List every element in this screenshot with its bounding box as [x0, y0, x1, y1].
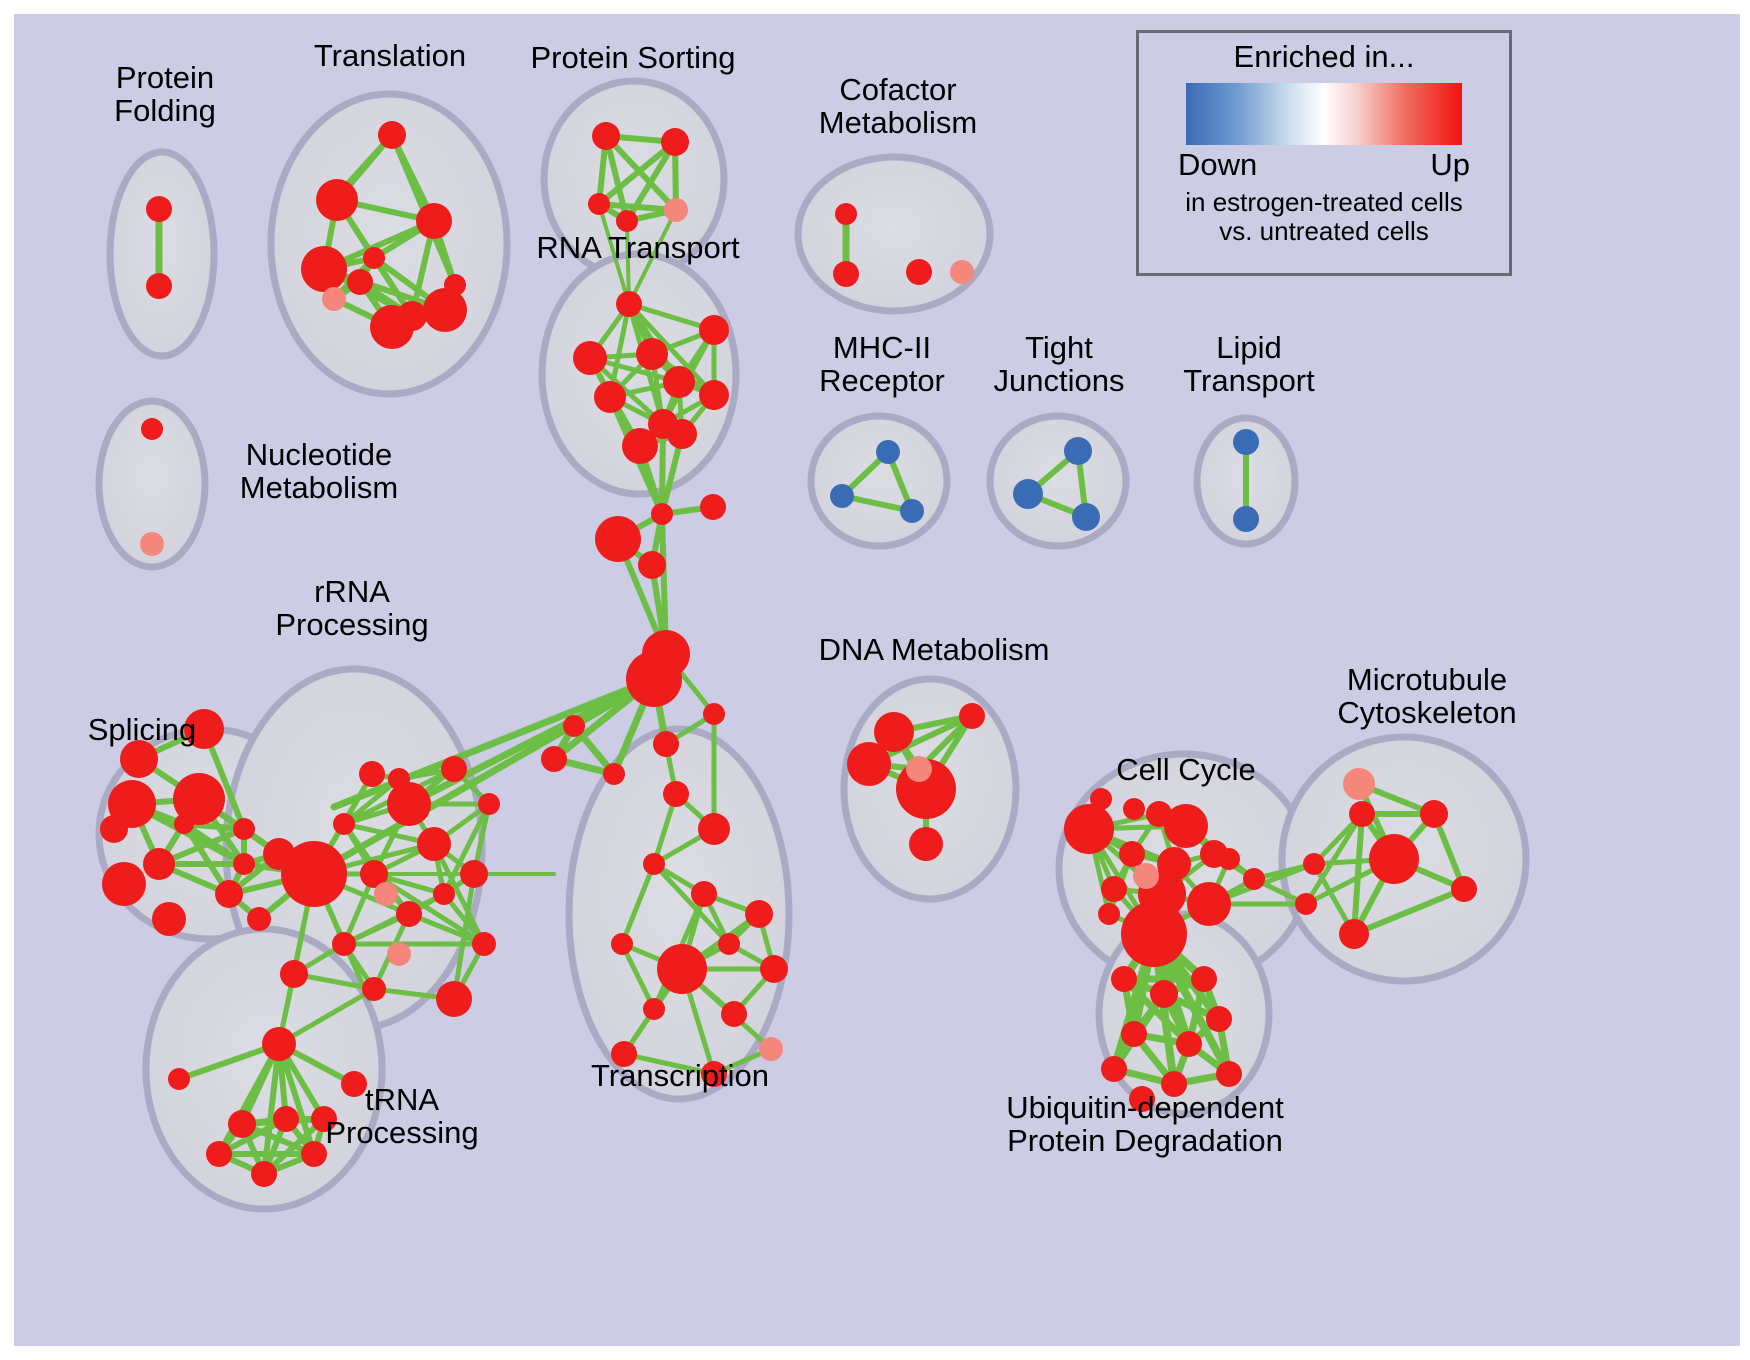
- cluster-label-protein-sorting: Protein Sorting: [500, 42, 766, 75]
- node: [228, 1110, 256, 1138]
- node: [102, 862, 146, 906]
- cluster-label-protein-folding: Protein Folding: [90, 62, 240, 128]
- node: [363, 247, 385, 269]
- node-down: [830, 484, 854, 508]
- node: [1339, 919, 1369, 949]
- node: [1090, 788, 1112, 810]
- node: [370, 305, 414, 349]
- node: [416, 203, 452, 239]
- node: [691, 881, 717, 907]
- node: [168, 1068, 190, 1090]
- node: [333, 813, 355, 835]
- node: [573, 341, 607, 375]
- node: [423, 288, 467, 332]
- node: [721, 1001, 747, 1027]
- node: [1123, 798, 1145, 820]
- node: [1420, 800, 1448, 828]
- node: [663, 366, 695, 398]
- node: [833, 261, 859, 287]
- node: [703, 703, 725, 725]
- node: [563, 715, 585, 737]
- node: [460, 860, 488, 888]
- cluster-label-cofactor-metabolism: Cofactor Metabolism: [784, 74, 1012, 140]
- node: [1349, 801, 1375, 827]
- node: [651, 503, 673, 525]
- node: [1191, 966, 1217, 992]
- node: [603, 763, 625, 785]
- node: [262, 1027, 296, 1061]
- node: [657, 944, 707, 994]
- node: [638, 551, 666, 579]
- node-down: [1064, 437, 1092, 465]
- legend-label-down: Down: [1178, 147, 1257, 183]
- legend-label-up: Up: [1430, 147, 1470, 183]
- node: [347, 269, 373, 295]
- node: [436, 981, 472, 1017]
- node: [699, 380, 729, 410]
- node-mid: [906, 756, 932, 782]
- hull-mhc: [811, 416, 947, 546]
- cluster-label-splicing: Splicing: [62, 714, 222, 747]
- node: [281, 841, 347, 907]
- node-down: [900, 499, 924, 523]
- cluster-label-dna-metabolism: DNA Metabolism: [804, 634, 1064, 667]
- node: [1369, 834, 1419, 884]
- node: [1150, 980, 1178, 1008]
- node: [396, 901, 422, 927]
- node-mid: [387, 942, 411, 966]
- node: [700, 494, 726, 520]
- legend-caption-line2: vs. untreated cells: [1219, 216, 1429, 247]
- node: [478, 793, 500, 815]
- node: [433, 883, 455, 905]
- node: [1164, 804, 1208, 848]
- node: [1187, 882, 1231, 926]
- node: [1101, 1056, 1127, 1082]
- cluster-label-trna-processing: tRNA Processing: [302, 1084, 502, 1150]
- node: [280, 960, 308, 988]
- node: [174, 814, 194, 834]
- node: [1121, 1021, 1147, 1047]
- node: [653, 731, 679, 757]
- node: [667, 419, 697, 449]
- cluster-label-mhc-ii-receptor: MHC-II Receptor: [794, 332, 970, 398]
- node: [1121, 901, 1187, 967]
- node: [100, 815, 128, 843]
- node: [1218, 848, 1240, 870]
- node: [541, 746, 567, 772]
- node: [146, 273, 172, 299]
- cluster-label-rrna-processing: rRNA Processing: [252, 576, 452, 642]
- node: [663, 781, 689, 807]
- node: [332, 932, 356, 956]
- node: [359, 761, 385, 787]
- node: [247, 907, 271, 931]
- node: [835, 203, 857, 225]
- node-mid: [950, 260, 974, 284]
- node: [146, 196, 172, 222]
- node: [1111, 966, 1137, 992]
- node: [1098, 903, 1120, 925]
- cluster-label-tight-junctions: Tight Junctions: [970, 332, 1148, 398]
- node: [643, 853, 665, 875]
- node: [1176, 1031, 1202, 1057]
- cluster-label-transcription: Transcription: [562, 1060, 798, 1093]
- node: [141, 418, 163, 440]
- node: [847, 742, 891, 786]
- cluster-label-translation: Translation: [284, 40, 496, 73]
- node: [1064, 804, 1114, 854]
- node: [1303, 853, 1325, 875]
- legend-title: Enriched in...: [1234, 39, 1415, 75]
- node: [233, 818, 255, 840]
- node-mid: [1133, 863, 1159, 889]
- cluster-label-cell-cycle: Cell Cycle: [1096, 754, 1276, 787]
- node: [233, 853, 255, 875]
- node: [1101, 876, 1127, 902]
- node-down: [1013, 479, 1043, 509]
- node: [595, 516, 641, 562]
- node: [698, 813, 730, 845]
- node: [362, 977, 386, 1001]
- node-down: [1072, 503, 1100, 531]
- node: [273, 1106, 299, 1132]
- node: [152, 902, 186, 936]
- node: [745, 900, 773, 928]
- node-mid: [374, 882, 398, 906]
- node-mid: [664, 198, 688, 222]
- hull-cofactor: [798, 157, 990, 311]
- node: [661, 128, 689, 156]
- node: [622, 428, 658, 464]
- legend-panel: Enriched in... Down Up in estrogen-treat…: [1136, 30, 1512, 276]
- legend-gradient-bar: [1186, 83, 1462, 145]
- node: [301, 246, 347, 292]
- node: [959, 703, 985, 729]
- node: [588, 193, 610, 215]
- node: [906, 259, 932, 285]
- node: [592, 122, 620, 150]
- hull-tight: [990, 416, 1126, 546]
- cluster-label-ubiquitin: Ubiquitin-dependent Protein Degradation: [980, 1092, 1310, 1158]
- node: [642, 630, 690, 678]
- node: [594, 381, 626, 413]
- node: [1216, 1061, 1242, 1087]
- node: [699, 315, 729, 345]
- node: [1295, 893, 1317, 915]
- network-plot-area: Protein Folding Translation Protein Sort…: [14, 14, 1740, 1346]
- node: [441, 756, 467, 782]
- node: [611, 933, 633, 955]
- cluster-label-microtubule: Microtubule Cytoskeleton: [1302, 664, 1552, 730]
- legend-caption-line1: in estrogen-treated cells: [1185, 187, 1462, 218]
- node-down: [1233, 429, 1259, 455]
- node: [1243, 868, 1265, 890]
- node: [909, 827, 943, 861]
- cluster-label-lipid-transport: Lipid Transport: [1160, 332, 1338, 398]
- cluster-label-nucleotide-metabolism: Nucleotide Metabolism: [204, 439, 434, 505]
- node: [378, 121, 406, 149]
- node: [387, 782, 431, 826]
- node: [143, 848, 175, 880]
- node: [636, 338, 668, 370]
- node: [251, 1161, 277, 1187]
- node: [215, 880, 243, 908]
- node: [1206, 1006, 1232, 1032]
- node: [472, 932, 496, 956]
- node: [316, 179, 358, 221]
- node: [718, 933, 740, 955]
- node: [643, 998, 665, 1020]
- node-mid: [322, 287, 346, 311]
- node: [1451, 876, 1477, 902]
- figure-canvas: Protein Folding Translation Protein Sort…: [0, 0, 1750, 1360]
- node: [1119, 841, 1145, 867]
- node: [616, 291, 642, 317]
- node-mid: [140, 532, 164, 556]
- node-down: [876, 440, 900, 464]
- node-mid: [1343, 768, 1375, 800]
- node-down: [1233, 506, 1259, 532]
- node: [760, 955, 788, 983]
- node: [616, 210, 638, 232]
- node: [417, 827, 451, 861]
- node: [206, 1141, 232, 1167]
- cluster-label-rna-transport: RNA Transport: [504, 232, 772, 265]
